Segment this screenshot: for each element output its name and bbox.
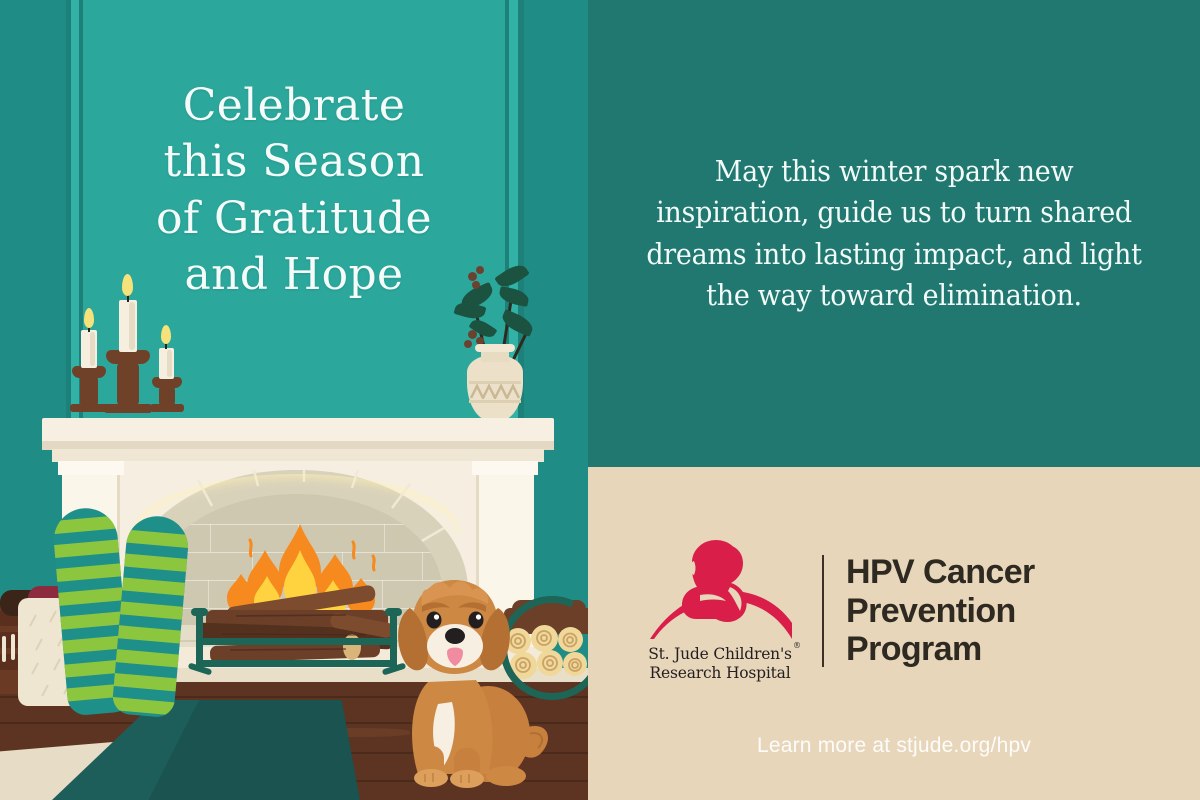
candle-flame: [161, 325, 171, 344]
program-title-line-3: Program: [846, 630, 1035, 669]
message-body: May this winter spark new inspiration, g…: [609, 151, 1178, 316]
stjude-wordmark-line-1: St. Jude Children's: [648, 645, 792, 664]
headline-line-1: Celebrate: [0, 78, 588, 134]
registered-trademark-icon: ®: [793, 641, 801, 651]
column-capital-right: [472, 461, 538, 475]
dog-nose: [445, 628, 465, 644]
column-capital-left: [58, 461, 124, 475]
log-bark-lines: [196, 596, 396, 662]
holly-berry: [464, 340, 472, 348]
vase-rim: [475, 344, 515, 352]
dog-eye-left: [427, 612, 442, 629]
headline-line-2: this Season: [0, 134, 588, 190]
headline-line-4: and Hope: [0, 247, 588, 303]
candle-flame: [84, 308, 94, 328]
vase-band: [469, 400, 521, 403]
fireplace-illustration: Celebrate this Season of Gratitude and H…: [0, 0, 588, 800]
program-title: HPV Cancer Prevention Program: [846, 553, 1035, 669]
promo-card: Celebrate this Season of Gratitude and H…: [0, 0, 1200, 800]
dog-eye-right: [469, 612, 484, 629]
candle-shading: [167, 350, 172, 377]
logo-lockup: St. Jude Children's Research Hospital ® …: [644, 539, 1035, 683]
candle-shading: [90, 332, 95, 366]
candlestick-stem: [117, 362, 139, 406]
message-panel: May this winter spark new inspiration, g…: [588, 0, 1200, 467]
holly-berry: [468, 330, 477, 339]
stjude-wordmark: St. Jude Children's Research Hospital ®: [648, 645, 792, 683]
logo-divider: [822, 555, 824, 667]
blanket-fringe: [0, 614, 46, 666]
candlestick-stem: [80, 376, 98, 406]
program-title-line-1: HPV Cancer: [846, 553, 1035, 592]
grate-rail: [198, 638, 396, 645]
grate-finial-left: [191, 608, 208, 616]
candlestick-cup: [106, 350, 150, 364]
headline-line-3: of Gratitude: [0, 191, 588, 247]
dog: [392, 578, 552, 800]
headline: Celebrate this Season of Gratitude and H…: [0, 78, 588, 303]
vase-zigzag-pattern: [470, 384, 520, 399]
stjude-wordmark-line-2: Research Hospital: [648, 664, 792, 683]
grate-post-left: [196, 614, 203, 670]
candle-shading: [129, 302, 135, 350]
brand-panel: St. Jude Children's Research Hospital ® …: [588, 467, 1200, 800]
stjude-child-icon: [644, 539, 796, 643]
stjude-logo: St. Jude Children's Research Hospital ®: [644, 539, 796, 683]
program-title-line-2: Prevention: [846, 592, 1035, 631]
grate-rail: [198, 660, 396, 667]
learn-more-cta[interactable]: Learn more at stjude.org/hpv: [588, 734, 1200, 758]
candlestick-stem: [159, 386, 175, 406]
